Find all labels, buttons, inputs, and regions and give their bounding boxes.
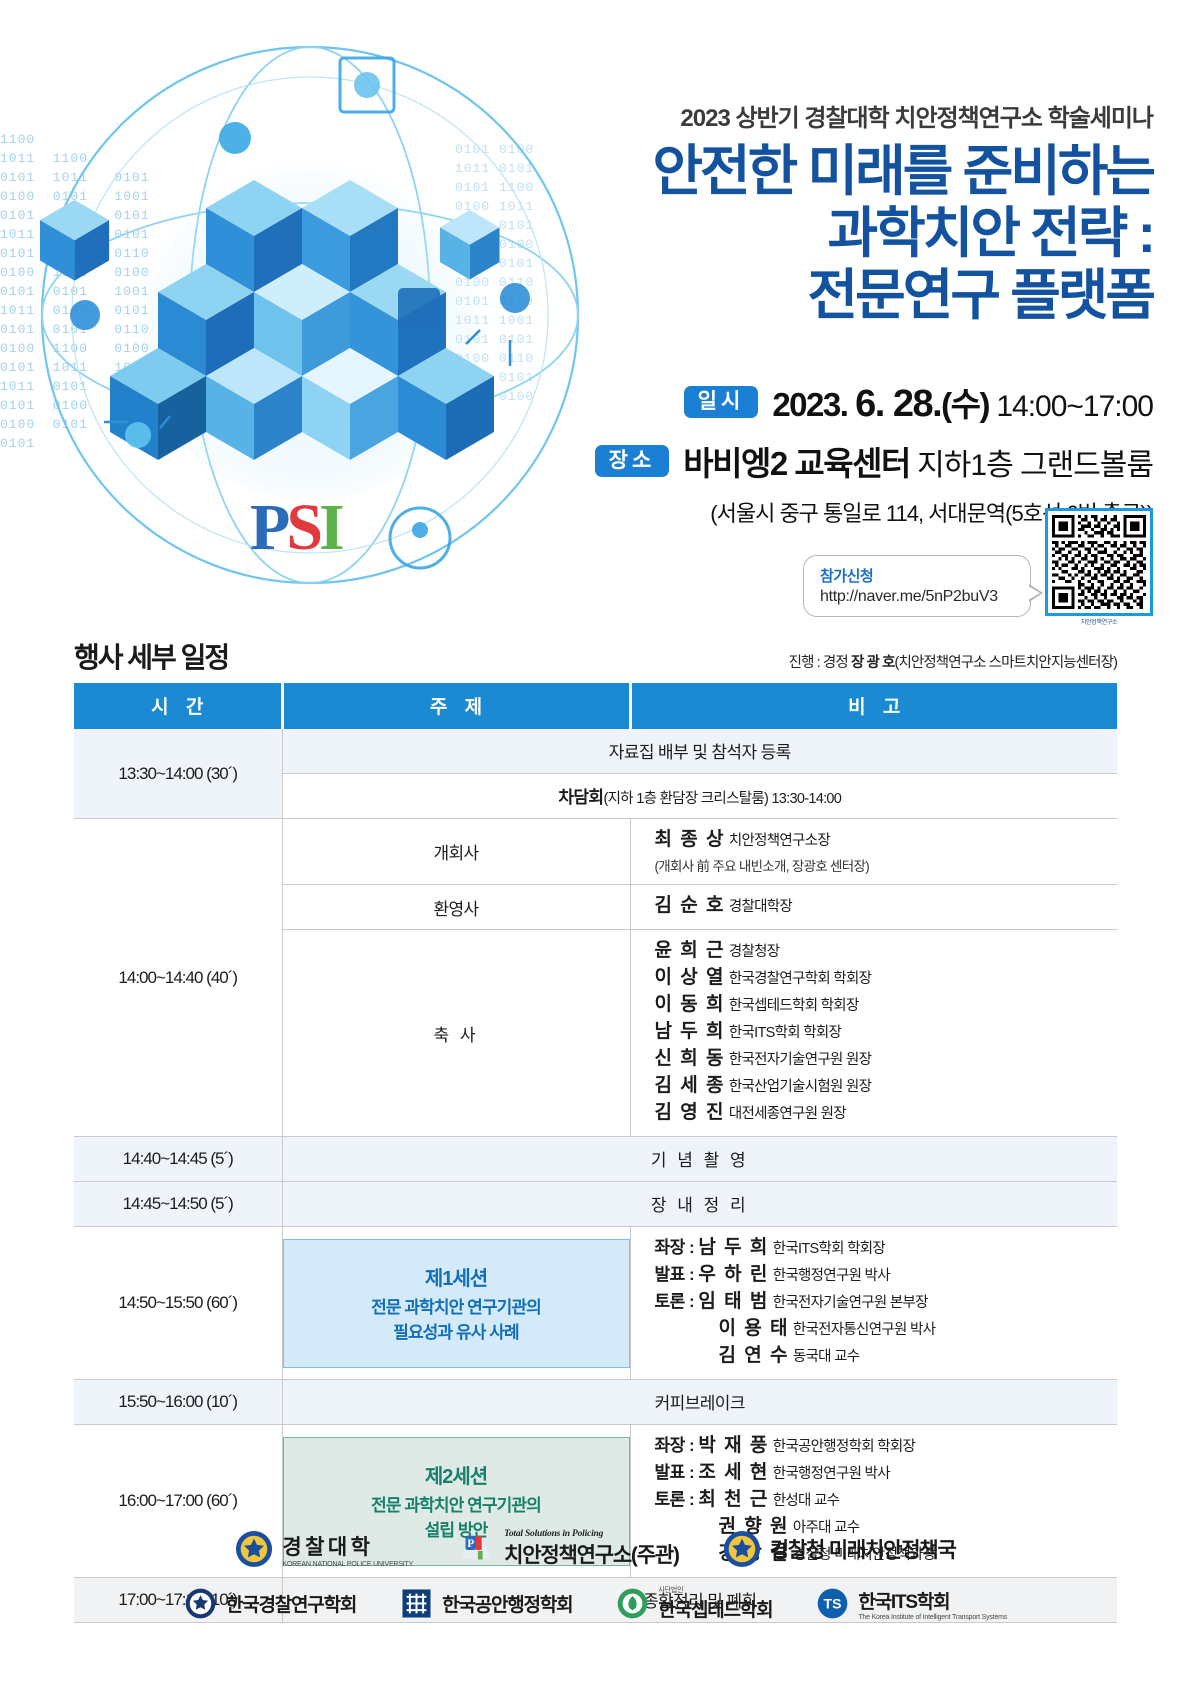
person-name: 김 순 호 xyxy=(655,895,726,916)
person-name: 신 희 동 xyxy=(655,1048,726,1069)
logo-korea-police-research: 한국경찰연구학회 xyxy=(184,1587,356,1620)
qr-code-block[interactable]: 치안정책연구소 xyxy=(1045,508,1153,626)
logo-its: TS 한국ITS학회 The Korea Institute of Intell… xyxy=(816,1587,1007,1621)
schedule-header: 행사 세부 일정 진행 : 경정 장 광 호(치안정책연구소 스마트치안지능센터… xyxy=(74,636,1117,676)
person-name: 김 영 진 xyxy=(655,1102,726,1123)
event-date-value: 2023. 6. 28.(수) 14:00~17:00 xyxy=(772,378,1153,426)
row-note: 자료집 배부 및 참석자 등록 xyxy=(282,729,1117,774)
person-affiliation: 한국셉테드학회 학회장 xyxy=(729,998,859,1014)
police-agency-emblem-icon xyxy=(723,1530,761,1568)
place-detail: 지하1층 그랜드볼룸 xyxy=(910,449,1153,482)
session-2-desc-line1: 전문 과학치안 연구기관의 xyxy=(290,1493,623,1518)
host-prefix: 진행 : 경정 xyxy=(789,655,851,671)
person-line: 신 희 동 한국전자기술연구원 원장 xyxy=(655,1046,1118,1073)
person-role: 토론 : xyxy=(655,1490,699,1509)
row-note: 차담회(지하 1층 환담장 크리스탈룸) 13:30-14:00 xyxy=(282,774,1117,819)
person-name: 최 천 근 xyxy=(698,1489,769,1510)
person-line: 최 종 상 치안정책연구소장 xyxy=(655,827,1118,854)
registration-title: 참가신청 xyxy=(820,565,1014,586)
person-name: 박 재 풍 xyxy=(698,1435,769,1456)
schedule-table: 시 간 주 제 비 고 13:30~14:00 (30´) 자료집 배부 및 참… xyxy=(74,683,1117,1623)
session-1-number: 제1세션 xyxy=(290,1262,623,1291)
person-line: 좌장 : 박 재 풍 한국공안행정학회 학회장 xyxy=(655,1433,1118,1460)
logo-police-university: 경 찰 대 학 KOREAN NATIONAL POLICE UNIVERSIT… xyxy=(235,1530,413,1568)
person-role: 발표 : xyxy=(655,1463,699,1482)
person-line: 이 용 태 한국전자통신연구원 박사 xyxy=(655,1316,1118,1343)
date-dow: (수) xyxy=(941,386,989,423)
qr-code-icon[interactable] xyxy=(1052,515,1146,609)
registration-url[interactable]: http://naver.me/5nP2buV3 xyxy=(820,588,1014,606)
person-affiliation: 동국대 교수 xyxy=(793,1349,860,1365)
event-info: 2023. 6. 28.(수) 14:00~17:00 일시 바비엥2 교육센터… xyxy=(595,378,1153,528)
person-line: 발표 : 조 세 현 한국행정연구원 박사 xyxy=(655,1460,1118,1487)
person-name: 이 동 희 xyxy=(655,994,726,1015)
row-topic: 축 사 xyxy=(282,930,630,1137)
session-2-number: 제2세션 xyxy=(290,1460,623,1489)
person-name: 최 종 상 xyxy=(655,829,726,850)
qr-caption: 치안정책연구소 xyxy=(1045,617,1153,626)
session-1-box: 제1세션 전문 과학치안 연구기관의 필요성과 유사 사례 xyxy=(283,1239,630,1368)
police-university-emblem-icon xyxy=(235,1530,273,1568)
table-row: 14:40~14:45 (5´) 기 념 촬 영 xyxy=(74,1137,1117,1182)
person-affiliation: 한국공안행정학회 학회장 xyxy=(773,1439,915,1455)
person-line: 좌장 : 남 두 희 한국ITS학회 학회장 xyxy=(655,1235,1118,1262)
row-note: 기 념 촬 영 xyxy=(282,1137,1117,1182)
seminar-poster: 1100 1011 1100 0101 1011 0101 0100 0101 … xyxy=(0,0,1191,1684)
page-title: 안전한 미래를 준비하는 과학치안 전략 : 전문연구 플랫폼 xyxy=(652,140,1153,326)
person-affiliation: 한국전자기술연구원 원장 xyxy=(729,1052,871,1068)
person-line: 발표 : 우 하 린 한국행정연구원 박사 xyxy=(655,1262,1118,1289)
logo-psi-text: Total Solutions in Policing 치안정책연구소(주관) xyxy=(504,1529,679,1569)
column-header-topic: 주 제 xyxy=(282,683,630,729)
event-date-row: 2023. 6. 28.(수) 14:00~17:00 일시 xyxy=(595,378,1153,426)
person-role: 토론 : xyxy=(655,1292,699,1311)
date-time: 14:00~17:00 xyxy=(989,390,1153,423)
row-note: 윤 희 근 경찰청장 이 상 열 한국경찰연구학회 학회장 이 동 희 한국셉테… xyxy=(630,930,1117,1137)
row-note: 장 내 정 리 xyxy=(282,1182,1117,1227)
session-1-topic: 제1세션 전문 과학치안 연구기관의 필요성과 유사 사례 xyxy=(282,1227,630,1380)
person-role: 좌장 : xyxy=(655,1238,699,1257)
person-line: 토론 : 임 태 범 한국전자기술연구원 본부장 xyxy=(655,1289,1118,1316)
its-emblem-icon: TS xyxy=(816,1587,849,1620)
person-line: 김 순 호 경찰대학장 xyxy=(655,893,1118,920)
table-row: 13:30~14:00 (30´) 자료집 배부 및 참석자 등록 xyxy=(74,729,1117,774)
row-time: 14:40~14:45 (5´) xyxy=(74,1137,282,1182)
logo-psi: P Total Solutions in Policing 치안정책연구소(주관… xyxy=(457,1529,679,1569)
schedule-host: 진행 : 경정 장 광 호(치안정책연구소 스마트치안지능센터장) xyxy=(789,651,1117,676)
person-name: 김 연 수 xyxy=(719,1345,790,1366)
logo-police-agency: 경찰청 미래치안정책국 xyxy=(723,1530,956,1568)
logo-police-agency-text: 경찰청 미래치안정책국 xyxy=(770,1534,956,1564)
tea-meeting-label: 차담회 xyxy=(558,788,603,807)
row-note: 최 종 상 치안정책연구소장 (개회사 前 주요 내빈소개, 장광호 센터장) xyxy=(630,819,1117,885)
person-affiliation: 한국ITS학회 학회장 xyxy=(773,1241,885,1257)
table-row: 14:00~14:40 (40´) 개회사 최 종 상 치안정책연구소장 (개회… xyxy=(74,819,1117,885)
person-affiliation: 한국전자통신연구원 박사 xyxy=(793,1322,935,1338)
row-note: 커피브레이크 xyxy=(282,1380,1117,1425)
logo-cpted-sub: 사단법인 xyxy=(658,1585,772,1595)
person-name: 남 두 희 xyxy=(698,1237,769,1258)
person-role: 좌장 : xyxy=(655,1436,699,1455)
registration-callout[interactable]: 참가신청 http://naver.me/5nP2buV3 xyxy=(803,555,1031,617)
hero-section: 1100 1011 1100 0101 1011 0101 0100 0101 … xyxy=(0,0,1191,630)
cpted-emblem-icon xyxy=(616,1587,649,1620)
person-note: (개회사 前 주요 내빈소개, 장광호 센터장) xyxy=(655,855,1118,875)
date-year: 2023. xyxy=(772,386,855,423)
footer-logo-row-primary: 경 찰 대 학 KOREAN NATIONAL POLICE UNIVERSIT… xyxy=(0,1529,1191,1569)
person-affiliation: 한국경찰연구학회 학회장 xyxy=(729,971,871,987)
person-name: 김 세 종 xyxy=(655,1075,726,1096)
session-1-people: 좌장 : 남 두 희 한국ITS학회 학회장 발표 : 우 하 린 한국행정연구… xyxy=(630,1227,1117,1380)
title-line-3: 전문연구 플랫폼 xyxy=(652,264,1153,326)
title-line-1: 안전한 미래를 준비하는 xyxy=(652,140,1153,202)
person-name: 우 하 린 xyxy=(698,1264,769,1285)
person-affiliation: 대전세종연구원 원장 xyxy=(729,1106,846,1122)
session-1-desc-line2: 필요성과 유사 사례 xyxy=(290,1320,623,1345)
footer-logo-row-secondary: 한국경찰연구학회 한국공안행정학회 사단법인 xyxy=(0,1585,1191,1622)
person-affiliation: 한국산업기술시험원 원장 xyxy=(729,1079,871,1095)
person-line: 윤 희 근 경찰청장 xyxy=(655,938,1118,965)
row-time: 14:50~15:50 (60´) xyxy=(74,1227,282,1380)
logo-cpted-text: 사단법인 한국셉테드학회 xyxy=(658,1585,772,1622)
person-affiliation: 한성대 교수 xyxy=(773,1493,840,1509)
logo-korea-public-safety: 한국공안행정학회 xyxy=(400,1587,572,1620)
logo-police-university-name: 경 찰 대 학 xyxy=(282,1536,368,1559)
host-affiliation: (치안정책연구소 스마트치안지능센터장) xyxy=(895,655,1117,671)
person-line: 김 연 수 동국대 교수 xyxy=(655,1343,1118,1370)
logo-cpted: 사단법인 한국셉테드학회 xyxy=(616,1585,772,1622)
column-header-time: 시 간 xyxy=(74,683,282,729)
person-name: 이 상 열 xyxy=(655,967,726,988)
row-time: 14:00~14:40 (40´) xyxy=(74,819,282,1137)
logo-its-name: 한국ITS학회 xyxy=(858,1592,949,1613)
person-line: 남 두 희 한국ITS학회 학회장 xyxy=(655,1019,1118,1046)
column-header-note: 비 고 xyxy=(630,683,1117,729)
logo-korea-public-safety-text: 한국공안행정학회 xyxy=(442,1590,572,1617)
person-role: 발표 : xyxy=(655,1265,699,1284)
logo-psi-tagline: Total Solutions in Policing xyxy=(504,1529,679,1539)
person-name: 임 태 범 xyxy=(698,1291,769,1312)
korea-police-research-emblem-icon xyxy=(184,1587,217,1620)
place-label-badge: 장소 xyxy=(595,445,670,477)
person-name: 조 세 현 xyxy=(698,1462,769,1483)
event-place-value: 바비엥2 교육센터 지하1층 그랜드볼룸 xyxy=(683,437,1153,485)
session-1-description: 전문 과학치안 연구기관의 필요성과 유사 사례 xyxy=(290,1295,623,1345)
person-name: 윤 희 근 xyxy=(655,940,726,961)
row-time: 15:50~16:00 (10´) xyxy=(74,1380,282,1425)
logo-cpted-name: 한국셉테드학회 xyxy=(658,1600,772,1621)
event-kicker: 2023 상반기 경찰대학 치안정책연구소 학술세미나 xyxy=(680,98,1153,133)
table-header-row: 시 간 주 제 비 고 xyxy=(74,683,1117,729)
session-1-desc-line1: 전문 과학치안 연구기관의 xyxy=(290,1295,623,1320)
person-affiliation: 치안정책연구소장 xyxy=(729,833,830,849)
person-line: 이 상 열 한국경찰연구학회 학회장 xyxy=(655,965,1118,992)
person-name: 이 용 태 xyxy=(719,1318,790,1339)
date-day: 28. xyxy=(893,383,941,425)
psi-logo: PSI xyxy=(250,490,341,566)
logo-psi-name: 치안정책연구소(주관) xyxy=(504,1544,679,1567)
korea-public-safety-emblem-icon xyxy=(400,1587,433,1620)
date-label-badge: 일시 xyxy=(684,386,759,418)
schedule-section: 행사 세부 일정 진행 : 경정 장 광 호(치안정책연구소 스마트치안지능센터… xyxy=(74,636,1117,1623)
schedule-title: 행사 세부 일정 xyxy=(74,636,228,676)
person-line: 토론 : 최 천 근 한성대 교수 xyxy=(655,1487,1118,1514)
row-time: 13:30~14:00 (30´) xyxy=(74,729,282,819)
title-line-2: 과학치안 전략 : xyxy=(652,202,1153,264)
person-line: 김 영 진 대전세종연구원 원장 xyxy=(655,1100,1118,1127)
person-affiliation: 한국전자기술연구원 본부장 xyxy=(773,1295,928,1311)
table-row: 14:45~14:50 (5´) 장 내 정 리 xyxy=(74,1182,1117,1227)
psi-emblem-icon: P xyxy=(457,1530,495,1568)
person-affiliation: 경찰대학장 xyxy=(729,899,792,915)
svg-text:TS: TS xyxy=(824,1595,842,1611)
row-topic: 개회사 xyxy=(282,819,630,885)
event-place-row: 바비엥2 교육센터 지하1층 그랜드볼룸 장소 xyxy=(595,437,1153,485)
footer-logos: 경 찰 대 학 KOREAN NATIONAL POLICE UNIVERSIT… xyxy=(0,1529,1191,1638)
tea-meeting-detail: (지하 1층 환담장 크리스탈룸) 13:30-14:00 xyxy=(603,791,841,807)
person-affiliation: 한국행정연구원 박사 xyxy=(773,1268,890,1284)
person-affiliation: 한국ITS학회 학회장 xyxy=(729,1025,841,1041)
place-name: 바비엥2 교육센터 xyxy=(683,445,910,482)
row-time: 14:45~14:50 (5´) xyxy=(74,1182,282,1227)
host-name: 장 광 호 xyxy=(851,655,895,671)
logo-police-university-sub: KOREAN NATIONAL POLICE UNIVERSITY xyxy=(282,1561,413,1568)
person-affiliation: 한국행정연구원 박사 xyxy=(773,1466,890,1482)
table-row: 15:50~16:00 (10´) 커피브레이크 xyxy=(74,1380,1117,1425)
person-name: 남 두 희 xyxy=(655,1021,726,1042)
svg-text:P: P xyxy=(467,1538,474,1550)
logo-its-sub: The Korea Institute of Intelligent Trans… xyxy=(858,1614,1007,1621)
date-month: 6. xyxy=(855,383,893,425)
qr-code-frame xyxy=(1045,508,1153,616)
row-note: 김 순 호 경찰대학장 xyxy=(630,885,1117,930)
person-line: 이 동 희 한국셉테드학회 학회장 xyxy=(655,992,1118,1019)
table-row: 14:50~15:50 (60´) 제1세션 전문 과학치안 연구기관의 필요성… xyxy=(74,1227,1117,1380)
logo-korea-police-research-text: 한국경찰연구학회 xyxy=(226,1590,356,1617)
row-topic: 환영사 xyxy=(282,885,630,930)
person-line: 김 세 종 한국산업기술시험원 원장 xyxy=(655,1073,1118,1100)
logo-police-university-text: 경 찰 대 학 KOREAN NATIONAL POLICE UNIVERSIT… xyxy=(282,1531,413,1568)
person-affiliation: 경찰청장 xyxy=(729,944,780,960)
logo-its-text: 한국ITS학회 The Korea Institute of Intellige… xyxy=(858,1587,1007,1621)
